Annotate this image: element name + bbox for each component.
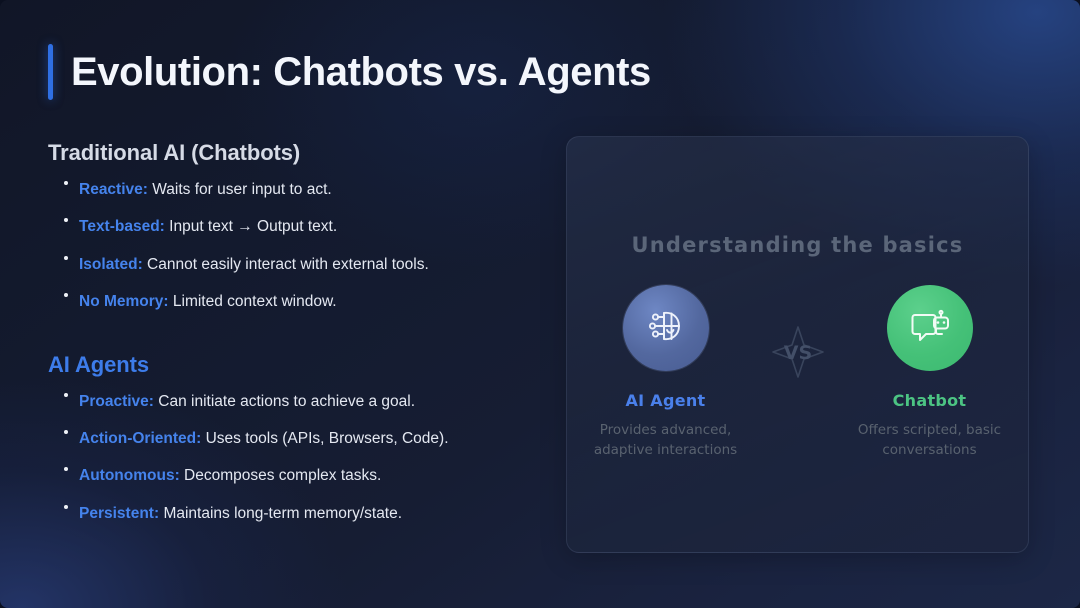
bullet-text: Can initiate actions to achieve a goal.: [158, 393, 415, 410]
vs-text: VS: [783, 342, 811, 364]
card-title: Understanding the basics: [567, 233, 1028, 257]
section-traditional-ai: Traditional AI (Chatbots) Reactive: Wait…: [48, 140, 543, 312]
bullet-label: Persistent:: [79, 505, 159, 522]
bullet-text: Uses tools (APIs, Browsers, Code).: [206, 430, 449, 447]
bullet-text: Waits for user input to act.: [152, 181, 331, 198]
bullet-text: Cannot easily interact with external too…: [147, 256, 429, 273]
bullet-text: Decomposes complex tasks.: [184, 467, 381, 484]
chatbot-label: Chatbot: [837, 391, 1023, 410]
vs-badge: VS: [759, 285, 837, 388]
ai-agent-icon-circle: [623, 285, 709, 371]
bullet-list-ai-agents: Proactive: Can initiate actions to achie…: [48, 392, 543, 524]
list-item: Isolated: Cannot easily interact with ex…: [48, 255, 543, 274]
list-item: No Memory: Limited context window.: [48, 292, 543, 311]
comparison-item-chatbot: Chatbot Offers scripted, basic conversat…: [837, 285, 1023, 460]
ai-agent-label: AI Agent: [573, 391, 759, 410]
bullet-label: Proactive:: [79, 393, 154, 410]
bullet-text: Input text → Output text.: [169, 218, 337, 235]
brain-circuit-icon: [641, 301, 691, 356]
list-item: Autonomous: Decomposes complex tasks.: [48, 466, 543, 485]
bullet-label: Text-based:: [79, 218, 165, 235]
section-heading-ai-agents: AI Agents: [48, 352, 543, 378]
section-heading-traditional-ai: Traditional AI (Chatbots): [48, 140, 543, 166]
bullet-label: Action-Oriented:: [79, 430, 201, 447]
list-item: Action-Oriented: Uses tools (APIs, Brows…: [48, 429, 543, 448]
list-item: Persistent: Maintains long-term memory/s…: [48, 504, 543, 523]
list-item: Proactive: Can initiate actions to achie…: [48, 392, 543, 411]
comparison-illustration-card: Understanding the basics: [566, 136, 1029, 553]
bullet-text: Limited context window.: [173, 293, 337, 310]
page-title: Evolution: Chatbots vs. Agents: [71, 50, 651, 95]
left-content-column: Traditional AI (Chatbots) Reactive: Wait…: [48, 140, 543, 541]
chatbot-description: Offers scripted, basic conversations: [837, 421, 1023, 460]
title-accent-bar: [48, 44, 53, 100]
vs-star-icon: VS: [767, 321, 829, 388]
slide-title-row: Evolution: Chatbots vs. Agents: [48, 44, 651, 100]
bullet-label: Isolated:: [79, 256, 143, 273]
ai-agent-description: Provides advanced, adaptive interactions: [573, 421, 759, 460]
section-ai-agents: AI Agents Proactive: Can initiate action…: [48, 352, 543, 524]
bullet-label: No Memory:: [79, 293, 169, 310]
list-item: Text-based: Input text → Output text.: [48, 217, 543, 236]
bullet-label: Reactive:: [79, 181, 148, 198]
slide-canvas: Evolution: Chatbots vs. Agents Tradition…: [0, 0, 1080, 608]
chatbot-icon-circle: [887, 285, 973, 371]
bullet-text: Maintains long-term memory/state.: [163, 505, 402, 522]
bullet-list-traditional-ai: Reactive: Waits for user input to act. T…: [48, 180, 543, 312]
comparison-item-ai-agent: AI Agent Provides advanced, adaptive int…: [573, 285, 759, 460]
list-item: Reactive: Waits for user input to act.: [48, 180, 543, 199]
bullet-label: Autonomous:: [79, 467, 180, 484]
comparison-row: AI Agent Provides advanced, adaptive int…: [567, 285, 1028, 460]
chat-robot-icon: [905, 301, 955, 356]
